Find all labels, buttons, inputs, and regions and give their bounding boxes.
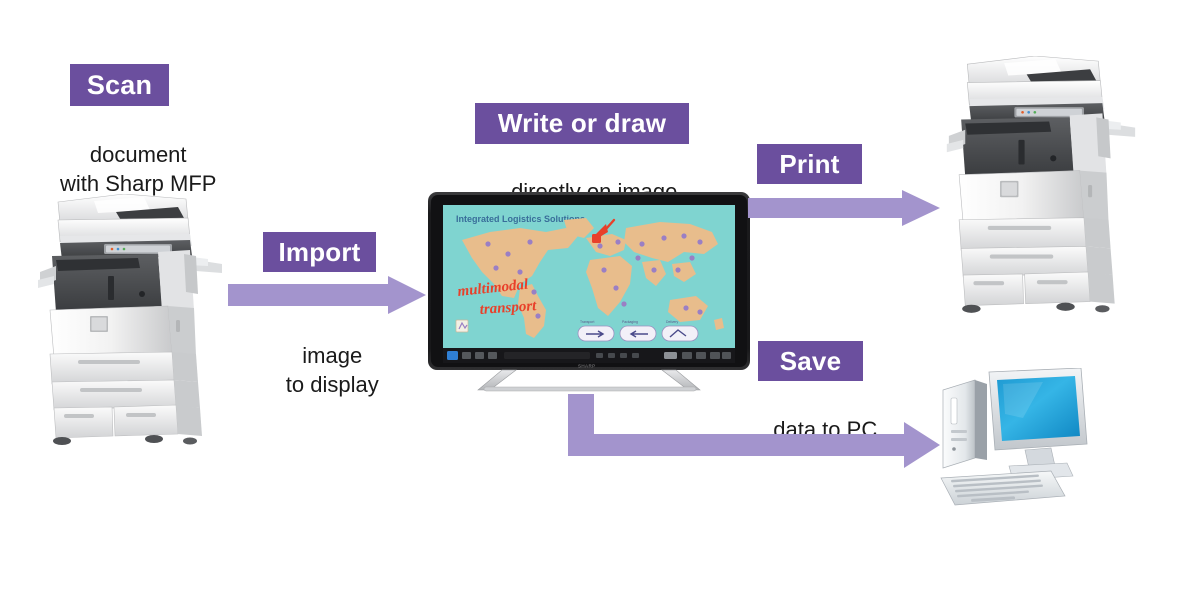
badge-save: Save [758, 341, 863, 381]
badge-import: Import [263, 232, 376, 272]
caption-import-line2: to display [222, 343, 418, 426]
workflow-diagram: Scan document with Sharp MFP [0, 0, 1200, 598]
badge-write-or-draw: Write or draw [475, 103, 689, 144]
badge-save-label: Save [780, 346, 842, 377]
desktop-pc-illustration [925, 368, 1095, 516]
badge-print-label: Print [779, 149, 839, 180]
target-mfp-illustration [944, 56, 1140, 318]
source-mfp-illustration [38, 194, 224, 450]
arrow-print [748, 190, 940, 226]
badge-import-label: Import [278, 237, 360, 268]
display-brand-logo: SHARP [578, 364, 596, 369]
badge-print: Print [757, 144, 862, 184]
badge-write-label: Write or draw [498, 108, 666, 139]
svg-text:Transport: Transport [580, 320, 594, 324]
badge-scan: Scan [70, 64, 169, 106]
interactive-display[interactable]: Integrated Logistics Solutions [428, 192, 750, 392]
svg-text:Delivery: Delivery [666, 320, 679, 324]
arrow-import [228, 276, 426, 314]
badge-scan-label: Scan [87, 70, 152, 101]
svg-text:Packaging: Packaging [622, 320, 638, 324]
arrow-save [560, 394, 940, 476]
